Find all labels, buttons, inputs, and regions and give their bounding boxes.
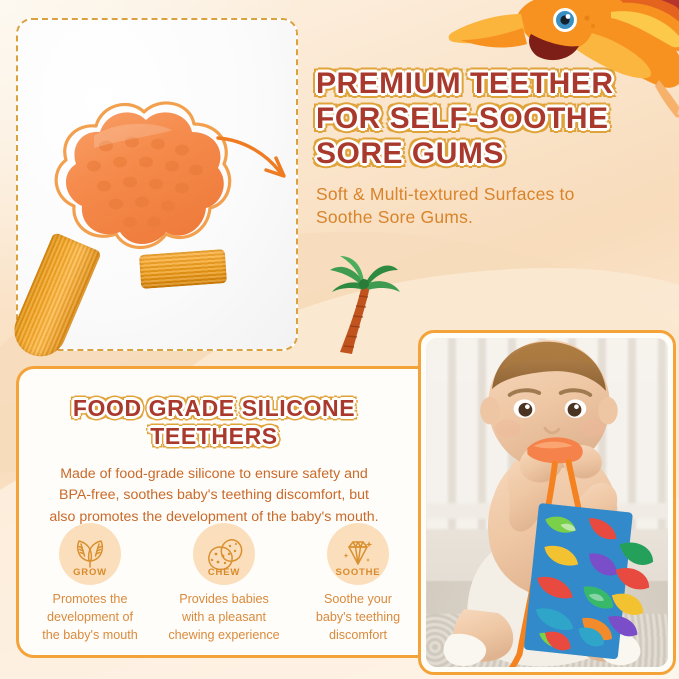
baby-illustration <box>426 338 668 667</box>
feature-soothe-badge: SOOTHE <box>327 523 389 585</box>
callout-arrow-icon <box>214 130 298 194</box>
subtitle-line-1: Soft & Multi-textured Surfaces to <box>316 183 666 205</box>
feature-soothe-line-2: baby's teething <box>316 609 400 627</box>
info-panel-title: FOOD GRADE SILICONE TEETHERS <box>19 395 409 450</box>
info-panel-body: Made of food-grade silicone to ensure sa… <box>19 464 409 528</box>
subtitle-line-2: Soothe Sore Gums. <box>316 206 666 228</box>
baby-photo-panel <box>418 330 676 675</box>
headline-line-3: SORE GUMS <box>316 136 666 171</box>
feature-chew-line-3: chewing experience <box>168 627 279 645</box>
headline-subtitle: Soft & Multi-textured Surfaces to Soothe… <box>316 183 666 228</box>
info-title-line-2: TEETHERS <box>19 423 409 451</box>
feature-grow: GROW Promotes the development of the bab… <box>29 523 151 645</box>
feature-grow-word: GROW <box>59 567 121 578</box>
feature-row: GROW Promotes the development of the bab… <box>29 523 419 645</box>
headline-block: PREMIUM TEETHER FOR SELF-SOOTHE SORE GUM… <box>316 66 666 228</box>
teether-fabric-strap <box>6 232 102 365</box>
info-title-line-1: FOOD GRADE SILICONE <box>19 395 409 423</box>
info-body-line-2: BPA-free, soothes baby's teething discom… <box>19 485 409 506</box>
palm-tree-icon <box>322 256 400 356</box>
feature-grow-badge: GROW <box>59 523 121 585</box>
feature-grow-line-1: Promotes the <box>42 591 138 609</box>
teether-body <box>54 102 232 258</box>
feature-chew-text: Provides babies with a pleasant chewing … <box>168 591 279 645</box>
feature-chew: CHEW Provides babies with a pleasant che… <box>163 523 285 645</box>
feature-soothe-word: SOOTHE <box>327 567 389 578</box>
feature-grow-line-2: development of <box>42 609 138 627</box>
teether-blob-shape <box>54 102 232 258</box>
headline-line-1: PREMIUM TEETHER <box>316 66 666 101</box>
feature-soothe-text: Soothe your baby's teething discomfort <box>316 591 400 645</box>
baby-photo <box>426 338 668 667</box>
feature-soothe-line-3: discomfort <box>316 627 400 645</box>
feature-chew-line-2: with a pleasant <box>168 609 279 627</box>
page-title: PREMIUM TEETHER FOR SELF-SOOTHE SORE GUM… <box>316 66 666 171</box>
product-photo-stage <box>18 20 296 349</box>
feature-soothe-line-1: Soothe your <box>316 591 400 609</box>
feature-grow-line-3: the baby's mouth <box>42 627 138 645</box>
feature-chew-line-1: Provides babies <box>168 591 279 609</box>
feature-chew-badge: CHEW <box>193 523 255 585</box>
headline-line-2: FOR SELF-SOOTHE <box>316 101 666 136</box>
info-body-line-1: Made of food-grade silicone to ensure sa… <box>19 464 409 485</box>
feature-grow-text: Promotes the development of the baby's m… <box>42 591 138 645</box>
teether-strap-loop <box>139 249 227 289</box>
product-infographic-page: PREMIUM TEETHER FOR SELF-SOOTHE SORE GUM… <box>0 0 679 679</box>
feature-chew-word: CHEW <box>193 567 255 578</box>
product-photo-panel <box>16 18 298 351</box>
feature-soothe: SOOTHE Soothe your baby's teething disco… <box>297 523 419 645</box>
